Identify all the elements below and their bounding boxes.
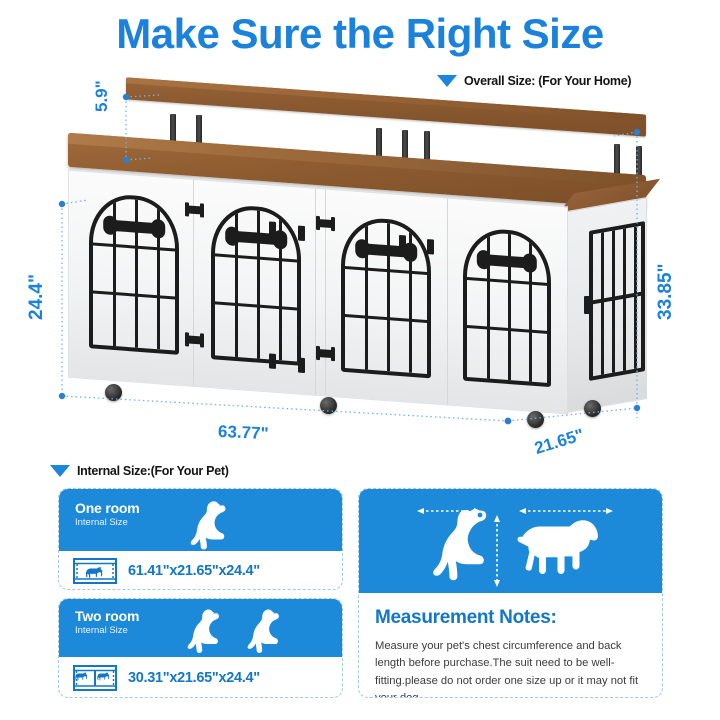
door-latch[interactable] bbox=[186, 335, 203, 344]
one-room-dimension-row: 61.41"x21.65"x24.4" bbox=[59, 551, 342, 590]
notes-title: Measurement Notes: bbox=[375, 607, 646, 629]
crate-two-dogs-icon bbox=[73, 665, 117, 691]
two-room-card: Two room Internal Size bbox=[58, 598, 343, 698]
bone-decoration bbox=[110, 220, 158, 234]
dog-sitting-icon bbox=[237, 602, 293, 657]
door-latch[interactable] bbox=[317, 349, 334, 358]
caster-wheel bbox=[584, 400, 601, 417]
door-latch[interactable] bbox=[317, 219, 334, 228]
dog-sitting-icon bbox=[433, 508, 486, 580]
dog-sitting-icon bbox=[177, 602, 233, 657]
triangle-down-icon bbox=[50, 465, 70, 477]
width-label: 63.77" bbox=[218, 422, 269, 444]
caster-wheel bbox=[320, 397, 337, 414]
cabinet-body bbox=[68, 184, 646, 408]
door-hinge bbox=[298, 226, 305, 242]
panel-seam bbox=[447, 198, 448, 404]
cabinet-height-label: 24.4" bbox=[26, 274, 48, 320]
product-illustration bbox=[58, 92, 658, 432]
side-door-latch[interactable] bbox=[584, 296, 591, 314]
crate-door[interactable] bbox=[463, 227, 551, 387]
crate-door[interactable] bbox=[89, 192, 179, 355]
dog-standing-icon bbox=[518, 520, 601, 574]
one-room-title: One room bbox=[75, 500, 140, 516]
page-title: Make Sure the Right Size bbox=[0, 10, 720, 58]
side-crate-door[interactable] bbox=[589, 221, 645, 381]
bone-decoration bbox=[484, 254, 530, 268]
two-room-size: 30.31"x21.65"x24.4" bbox=[128, 670, 260, 686]
internal-size-label: Internal Size:(For Your Pet) bbox=[77, 464, 229, 478]
infographic-page: Make Sure the Right Size Overall Size: (… bbox=[0, 0, 720, 720]
two-room-title: Two room bbox=[75, 608, 139, 624]
door-hinge bbox=[427, 239, 434, 255]
one-room-band: One room Internal Size bbox=[59, 489, 342, 551]
one-room-size: 61.41"x21.65"x24.4" bbox=[128, 563, 260, 579]
overall-size-label: Overall Size: (For Your Home) bbox=[464, 74, 631, 88]
two-room-dimension-row: 30.31"x21.65"x24.4" bbox=[59, 657, 342, 698]
caster-wheel bbox=[105, 384, 122, 401]
crate-one-dog-icon bbox=[73, 558, 117, 584]
shelf-height-label: 5.9" bbox=[92, 80, 112, 112]
two-room-band: Two room Internal Size bbox=[59, 599, 342, 657]
door-hinge bbox=[269, 353, 276, 369]
one-room-card: One room Internal Size 61.41"x21.65"x24.… bbox=[58, 488, 343, 590]
two-room-subtitle: Internal Size bbox=[75, 625, 139, 636]
caster-wheel bbox=[527, 411, 544, 428]
measurement-card: Measurement Notes: Measure your pet's ch… bbox=[358, 488, 663, 698]
overall-height-label: 33.85" bbox=[655, 263, 677, 320]
door-hinge bbox=[298, 358, 305, 374]
door-latch[interactable] bbox=[186, 205, 203, 214]
crate-door[interactable] bbox=[341, 216, 431, 379]
dog-measure-diagram bbox=[359, 489, 662, 593]
door-hinge bbox=[399, 235, 406, 251]
overall-size-header: Overall Size: (For Your Home) bbox=[437, 74, 631, 88]
dog-sitting-icon bbox=[179, 493, 241, 551]
measure-svg bbox=[359, 489, 662, 593]
cabinet-front-panel bbox=[68, 170, 568, 415]
one-room-subtitle: Internal Size bbox=[75, 517, 140, 528]
triangle-down-icon bbox=[437, 75, 457, 87]
crate-door[interactable] bbox=[211, 203, 301, 366]
door-hinge bbox=[269, 221, 276, 237]
notes-body: Measure your pet's chest circumference a… bbox=[375, 638, 646, 698]
internal-size-header: Internal Size:(For Your Pet) bbox=[50, 464, 229, 478]
